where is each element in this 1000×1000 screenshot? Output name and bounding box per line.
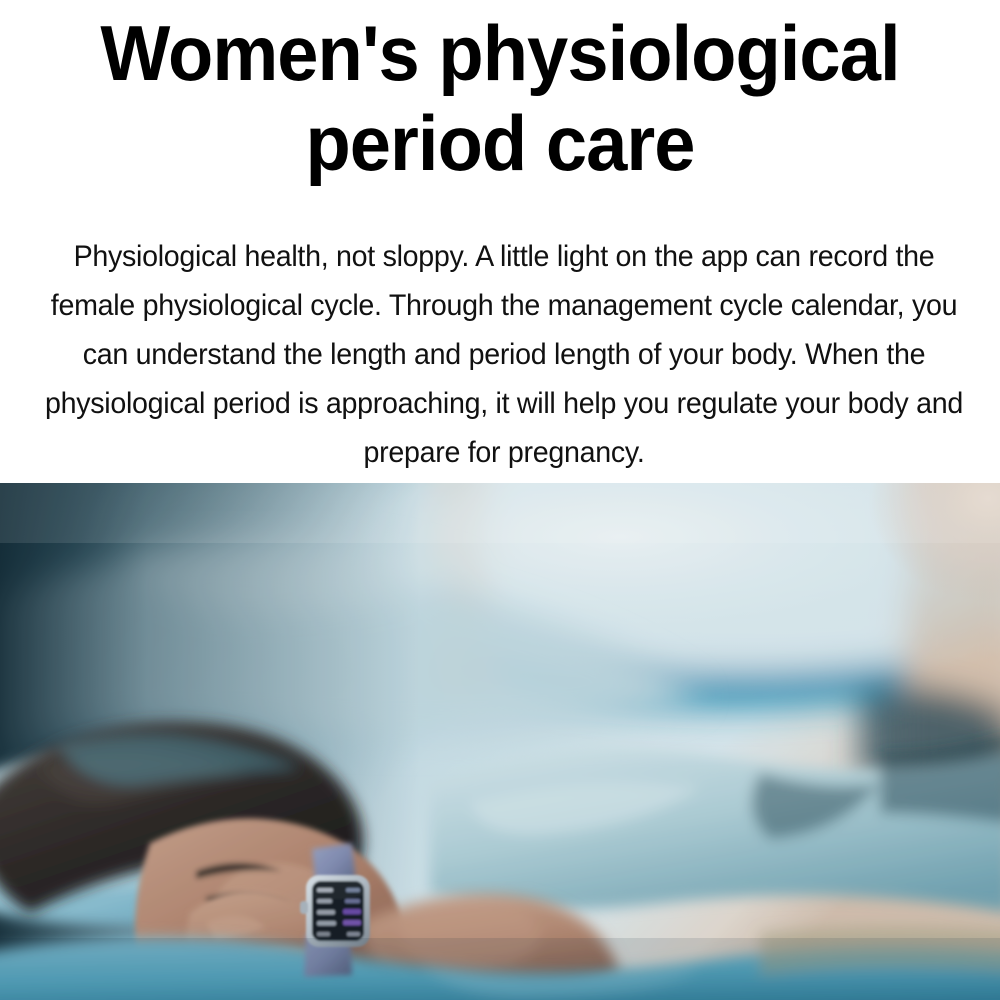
page-title: Women's physiological period care [44, 8, 956, 189]
lifestyle-photo [0, 483, 1000, 1000]
product-feature-page: Women's physiological period care Physio… [0, 0, 1000, 1000]
page-description: Physiological health, not sloppy. A litt… [44, 232, 964, 477]
text-section: Women's physiological period care Physio… [0, 0, 1000, 483]
photo-illustration [0, 483, 1000, 1000]
